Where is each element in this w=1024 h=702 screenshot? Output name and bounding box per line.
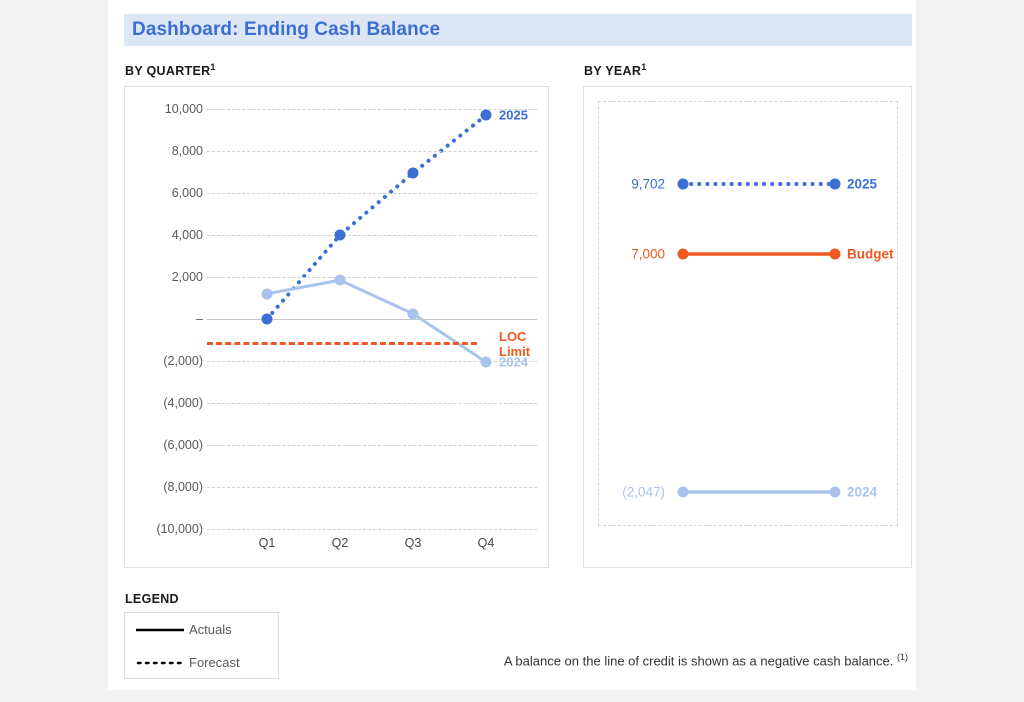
gridline — [207, 277, 537, 278]
year-data-point-Budget-start — [678, 249, 689, 260]
solid-line-icon — [134, 625, 186, 635]
footnote-text: A balance on the line of credit is shown… — [504, 653, 894, 668]
legend-swatch-dotted — [131, 658, 189, 668]
x-axis-tick-label: Q1 — [259, 536, 276, 550]
data-point-2024-Q3 — [408, 308, 419, 319]
gridline — [207, 151, 537, 152]
year-value-Budget: 7,000 — [631, 247, 665, 262]
legend-box: Actuals Forecast — [124, 612, 279, 679]
year-chart-plot-area: 9,70220257,000Budget(2,047)2024 — [598, 101, 898, 526]
legend-item-actuals: Actuals — [125, 613, 278, 646]
gridline — [207, 529, 537, 530]
y-axis-tick-label: (2,000) — [129, 354, 203, 368]
legend-label-forecast: Forecast — [189, 655, 240, 670]
loc-limit-label: LOC Limit — [499, 329, 550, 359]
series-end-label-2025: 2025 — [499, 108, 528, 123]
data-point-2025-Q3 — [408, 168, 419, 179]
y-axis-tick-label: 2,000 — [129, 270, 203, 284]
year-series-label-2025: 2025 — [847, 177, 877, 192]
gridline — [207, 403, 537, 404]
year-data-point-2024-start — [678, 487, 689, 498]
page-title: Dashboard: Ending Cash Balance — [124, 19, 440, 41]
by-year-text: BY YEAR — [584, 64, 641, 78]
y-axis-tick-label: (6,000) — [129, 438, 203, 452]
data-point-2025-Q1 — [262, 314, 273, 325]
legend-label-actuals: Actuals — [189, 622, 232, 637]
year-chart-lines — [599, 102, 899, 527]
quarter-chart-panel: 10,0008,0006,0004,0002,000–(2,000)(4,000… — [124, 86, 549, 568]
x-axis-tick-label: Q4 — [478, 536, 495, 550]
y-axis-tick-label: – — [129, 312, 203, 326]
quarter-chart-y-axis: 10,0008,0006,0004,0002,000–(2,000)(4,000… — [125, 87, 203, 569]
series-line-2024 — [267, 280, 486, 362]
loc-limit-line — [207, 342, 477, 345]
year-data-point-2025-start — [678, 179, 689, 190]
by-quarter-text: BY QUARTER — [125, 64, 210, 78]
dotted-line-icon — [134, 658, 186, 668]
by-year-footnote-marker: 1 — [641, 62, 646, 72]
year-chart-panel: 9,70220257,000Budget(2,047)2024 — [583, 86, 912, 568]
y-axis-tick-label: (10,000) — [129, 522, 203, 536]
y-axis-tick-label: 8,000 — [129, 144, 203, 158]
year-series-label-2024: 2024 — [847, 485, 877, 500]
year-value-2025: 9,702 — [631, 177, 665, 192]
x-axis-tick-label: Q3 — [405, 536, 422, 550]
data-point-2024-Q4 — [481, 356, 492, 367]
gridline — [207, 487, 537, 488]
gridline — [207, 193, 537, 194]
footnote-marker: (1) — [897, 652, 908, 662]
legend-item-forecast: Forecast — [125, 646, 278, 679]
quarter-chart-plot-area: Q1Q2Q3Q420252024LOC Limit — [207, 87, 550, 569]
section-label-by-quarter: BY QUARTER1 — [125, 62, 216, 78]
y-axis-tick-label: (4,000) — [129, 396, 203, 410]
y-axis-tick-label: 10,000 — [129, 102, 203, 116]
y-axis-tick-label: 4,000 — [129, 228, 203, 242]
legend-swatch-solid — [131, 625, 189, 635]
footnote: A balance on the line of credit is shown… — [408, 652, 908, 668]
year-value-2024: (2,047) — [622, 485, 665, 500]
quarter-chart-lines — [207, 87, 550, 569]
section-label-by-year: BY YEAR1 — [584, 62, 647, 78]
gridline — [207, 445, 537, 446]
legend-title: LEGEND — [125, 592, 179, 606]
x-axis-tick-label: Q2 — [332, 536, 349, 550]
gridline — [207, 235, 537, 236]
dashboard-card: Dashboard: Ending Cash Balance BY QUARTE… — [108, 0, 916, 690]
dashboard-header-banner: Dashboard: Ending Cash Balance — [124, 14, 912, 46]
year-data-point-2025-end — [830, 179, 841, 190]
year-series-label-Budget: Budget — [847, 247, 894, 262]
data-point-2025-Q4 — [481, 110, 492, 121]
y-axis-tick-label: 6,000 — [129, 186, 203, 200]
data-point-2024-Q2 — [335, 275, 346, 286]
year-data-point-2024-end — [830, 487, 841, 498]
by-quarter-footnote-marker: 1 — [210, 62, 215, 72]
data-point-2024-Q1 — [262, 288, 273, 299]
y-axis-tick-label: (8,000) — [129, 480, 203, 494]
gridline — [207, 319, 537, 320]
data-point-2025-Q2 — [335, 230, 346, 241]
year-data-point-Budget-end — [830, 249, 841, 260]
